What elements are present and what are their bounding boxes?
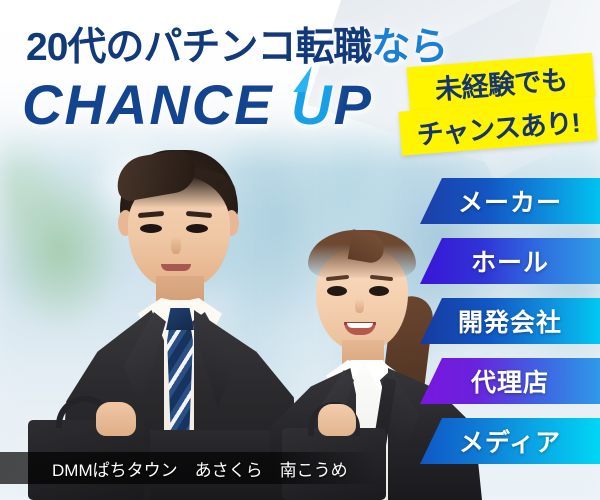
recruitment-banner: 20代のパチンコ転職なら CHANCE UP 未経験でも チャンスあり! メーカ… xyxy=(0,0,600,500)
man-nose xyxy=(171,236,181,254)
woman-eye-left xyxy=(327,286,347,296)
category-button-agency[interactable]: 代理店 xyxy=(420,358,600,404)
logo-chance: CHANCE xyxy=(22,73,274,136)
man-mouth xyxy=(161,264,191,271)
man-eye-right xyxy=(186,224,208,233)
brand-logo: CHANCE UP xyxy=(22,72,373,137)
woman-teeth xyxy=(347,323,373,328)
category-button-list: メーカー ホール 開発会社 代理店 メディア xyxy=(420,178,600,488)
category-button-hall[interactable]: ホール xyxy=(420,238,600,284)
woman-nose xyxy=(355,298,364,313)
man-eye-left xyxy=(140,224,162,233)
category-button-maker[interactable]: メーカー xyxy=(420,178,600,224)
promo-badge: 未経験でも チャンスあり! xyxy=(398,52,598,162)
page-headline: 20代のパチンコ転職なら xyxy=(26,16,447,72)
woman-hand xyxy=(318,404,356,436)
caption-text: DMMぱちタウン あさくら 南こうめ xyxy=(0,456,348,481)
logo-p: P xyxy=(334,73,373,136)
caption-bar: DMMぱちタウン あさくら 南こうめ xyxy=(0,452,378,484)
man-hand xyxy=(96,402,136,436)
woman-eye-right xyxy=(369,286,389,296)
category-button-media[interactable]: メディア xyxy=(420,418,600,464)
man-tie-knot xyxy=(166,308,194,330)
headline-main: 20代のパチンコ転職 xyxy=(26,26,371,69)
category-button-developer[interactable]: 開発会社 xyxy=(420,298,600,344)
